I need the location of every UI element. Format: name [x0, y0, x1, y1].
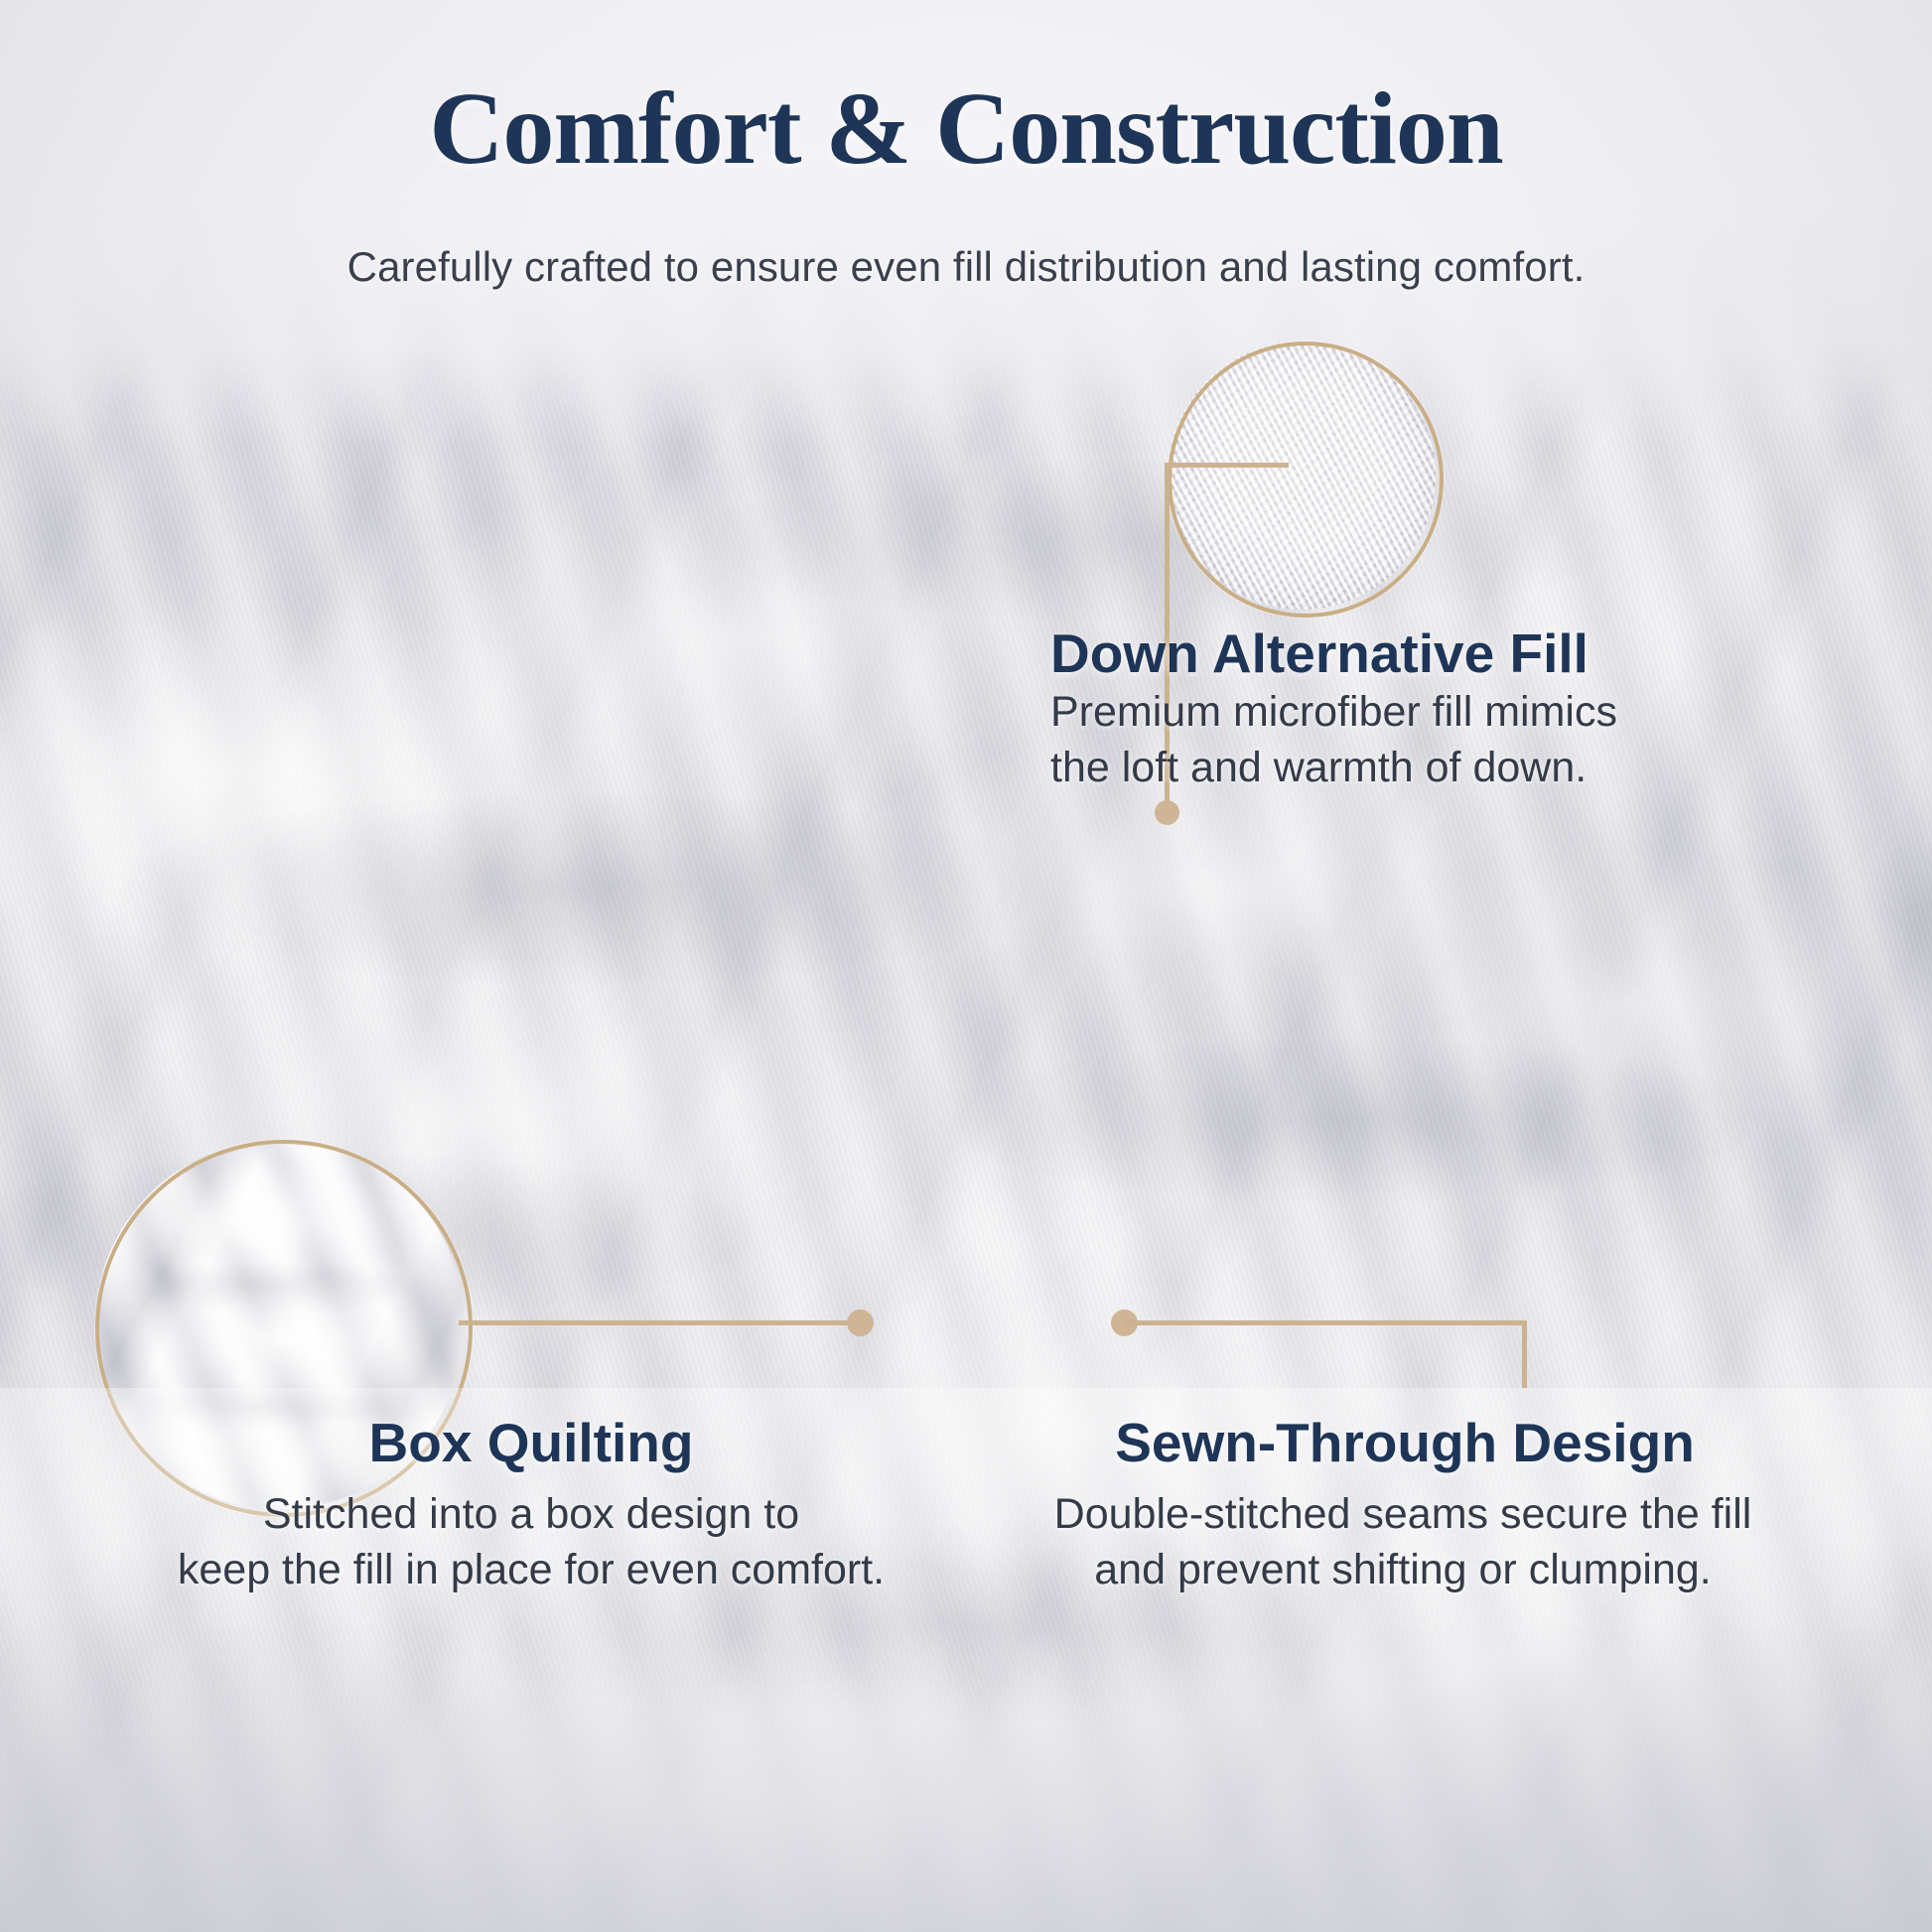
infographic-canvas: Comfort & Construction Carefully crafted… — [0, 0, 1932, 1932]
feature-body-down-alternative-fill: Premium microfiber fill mimics the loft … — [1050, 685, 1874, 796]
feature-body-line: keep the fill in place for even comfort. — [99, 1543, 963, 1598]
fill-connector-dot — [1155, 800, 1179, 825]
feature-title-down-alternative-fill: Down Alternative Fill — [1050, 625, 1588, 683]
feature-body-line: Stitched into a box design to — [99, 1487, 963, 1543]
feature-body-box-quilting: Stitched into a box design to keep the f… — [99, 1487, 963, 1598]
feature-title-sewn-through-design: Sewn-Through Design — [874, 1415, 1932, 1472]
box-quilting-connector-dot — [847, 1310, 874, 1336]
page-title: Comfort & Construction — [0, 77, 1932, 181]
page-subtitle: Carefully crafted to ensure even fill di… — [0, 243, 1932, 291]
feature-body-line: Double-stitched seams secure the fill — [884, 1487, 1922, 1543]
feature-body-line: and prevent shifting or clumping. — [884, 1543, 1922, 1598]
sewn-through-connector-horizontal — [1124, 1320, 1527, 1325]
feature-body-line: Premium microfiber fill mimics — [1050, 685, 1874, 741]
feature-body-sewn-through-design: Double-stitched seams secure the fill an… — [884, 1487, 1922, 1598]
fiber-fill-shading — [1168, 342, 1436, 610]
fiber-fill-inset-photo — [1168, 342, 1436, 610]
box-quilting-connector — [459, 1320, 864, 1325]
sewn-through-connector-vertical — [1522, 1320, 1527, 1388]
feature-body-line: the loft and warmth of down. — [1050, 741, 1874, 796]
fill-connector-horizontal — [1165, 463, 1289, 468]
